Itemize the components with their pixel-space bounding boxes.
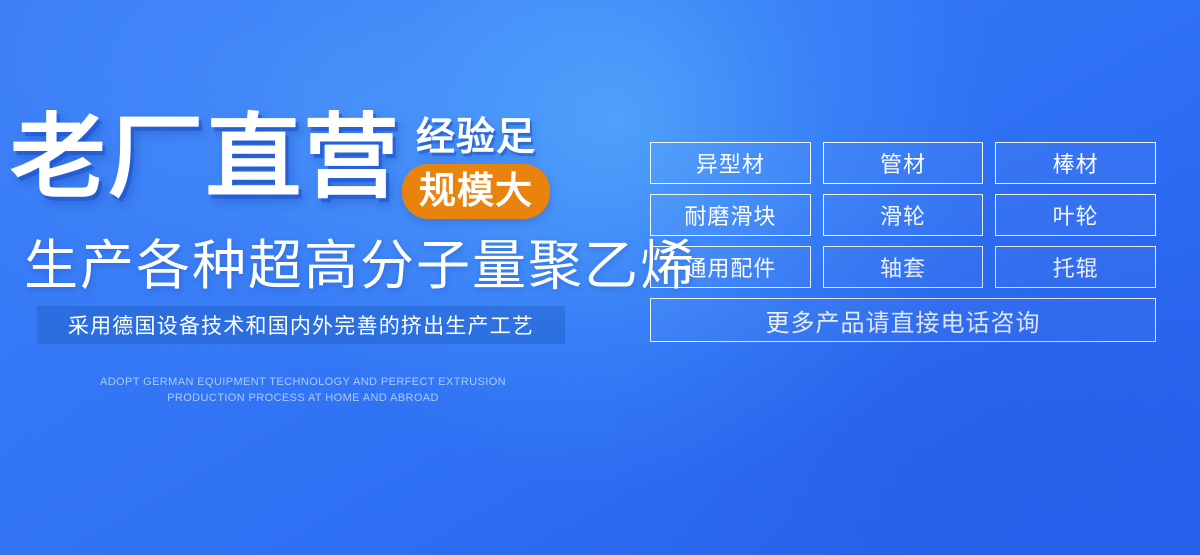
product-box-pipes[interactable]: 管材 [823,142,984,184]
headline-block: 老厂直营 经验足 规模大 生产各种超高分子量聚乙烯 采用德国设备技术和国内外完善… [0,0,620,555]
product-row-4: 更多产品请直接电话咨询 [650,298,1156,342]
product-box-idler[interactable]: 托辊 [995,246,1156,288]
english-line-2: PRODUCTION PROCESS AT HOME AND ABROAD [0,390,606,406]
product-box-profiles[interactable]: 异型材 [650,142,811,184]
product-category-grid: 异型材 管材 棒材 耐磨滑块 滑轮 叶轮 通用配件 轴套 托辊 更多产品请直接电… [650,142,1156,342]
contact-cta-box[interactable]: 更多产品请直接电话咨询 [650,298,1156,342]
promo-banner: 老厂直营 经验足 规模大 生产各种超高分子量聚乙烯 采用德国设备技术和国内外完善… [0,0,1200,555]
english-line-1: ADOPT GERMAN EQUIPMENT TECHNOLOGY AND PE… [0,374,606,390]
product-box-impeller[interactable]: 叶轮 [995,194,1156,236]
headline-row: 老厂直营 经验足 规模大 [10,112,550,219]
product-box-bushing[interactable]: 轴套 [823,246,984,288]
tagline-band: 采用德国设备技术和国内外完善的挤出生产工艺 [37,306,565,344]
product-row-1: 异型材 管材 棒材 [650,142,1156,184]
product-box-pulley[interactable]: 滑轮 [823,194,984,236]
english-subtitle: ADOPT GERMAN EQUIPMENT TECHNOLOGY AND PE… [0,374,606,406]
main-headline: 老厂直营 [10,112,401,204]
badge-scale-pill: 规模大 [402,164,550,219]
tagline-text: 采用德国设备技术和国内外完善的挤出生产工艺 [68,310,534,340]
product-box-general-parts[interactable]: 通用配件 [650,246,811,288]
product-box-rods[interactable]: 棒材 [995,142,1156,184]
product-row-2: 耐磨滑块 滑轮 叶轮 [650,194,1156,236]
badge-stack: 经验足 规模大 [402,118,550,219]
sub-headline: 生产各种超高分子量聚乙烯 [24,238,696,295]
product-row-3: 通用配件 轴套 托辊 [650,246,1156,288]
badge-experience: 经验足 [416,118,536,159]
product-box-wear-slider[interactable]: 耐磨滑块 [650,194,811,236]
